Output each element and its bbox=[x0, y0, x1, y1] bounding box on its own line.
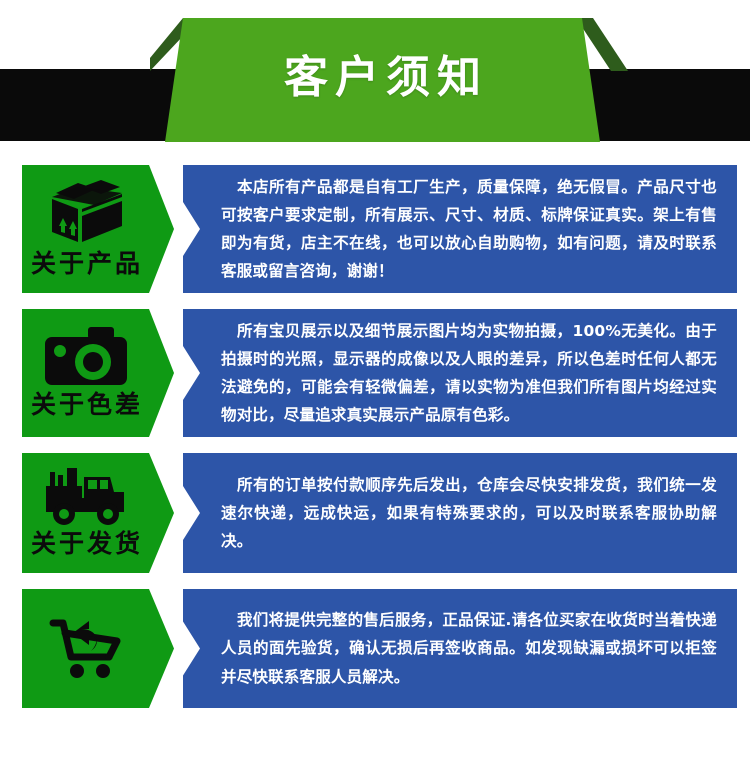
notice-text: 所有的订单按付款顺序先后发出，仓库会尽快安排发货，我们统一发速尔快递，远成快运，… bbox=[221, 471, 717, 556]
notice-panel-product: 本店所有产品都是自有工厂生产，质量保障，绝无假冒。产品尺寸也可按客户要求定制，所… bbox=[183, 165, 737, 293]
notice-row: 关于产品 本店所有产品都是自有工厂生产，质量保障，绝无假冒。产品尺寸也可按客户要… bbox=[0, 165, 750, 293]
notice-tile-label: 关于产品 bbox=[28, 250, 143, 278]
notice-panel-color: 所有宝贝展示以及细节展示图片均为实物拍摄，100%无美化。由于拍摄时的光照，显示… bbox=[183, 309, 737, 437]
delivery-truck-icon bbox=[40, 468, 132, 526]
page-title: 客户须知 bbox=[277, 56, 488, 104]
notice-tile-shipping: 关于发货 bbox=[22, 453, 174, 573]
customer-notice-page: 客户须知 bbox=[0, 0, 750, 768]
notice-text: 所有宝贝展示以及细节展示图片均为实物拍摄，100%无美化。由于拍摄时的光照，显示… bbox=[221, 317, 717, 430]
package-box-icon bbox=[44, 180, 128, 246]
notice-tile-label: 关于色差 bbox=[28, 391, 143, 419]
notice-row: 我们将提供完整的售后服务，正品保证.请各位买家在收货时当着快递人员的面先验货，确… bbox=[0, 589, 750, 708]
notice-tile-after-sales bbox=[22, 589, 174, 708]
notice-text: 本店所有产品都是自有工厂生产，质量保障，绝无假冒。产品尺寸也可按客户要求定制，所… bbox=[221, 173, 717, 286]
return-cart-icon bbox=[47, 615, 125, 679]
notice-tile-product: 关于产品 bbox=[22, 165, 174, 293]
notice-row: 关于发货 所有的订单按付款顺序先后发出，仓库会尽快安排发货，我们统一发速尔快递，… bbox=[0, 453, 750, 573]
notice-tile-label: 关于发货 bbox=[28, 530, 143, 558]
banner-ribbon: 客户须知 bbox=[165, 18, 600, 142]
notice-row: 关于色差 所有宝贝展示以及细节展示图片均为实物拍摄，100%无美化。由于拍摄时的… bbox=[0, 309, 750, 437]
notice-rows: 关于产品 本店所有产品都是自有工厂生产，质量保障，绝无假冒。产品尺寸也可按客户要… bbox=[0, 152, 750, 708]
notice-text: 我们将提供完整的售后服务，正品保证.请各位买家在收货时当着快递人员的面先验货，确… bbox=[221, 606, 717, 691]
notice-tile-color: 关于色差 bbox=[22, 309, 174, 437]
page-header-banner: 客户须知 bbox=[0, 0, 750, 152]
camera-icon bbox=[43, 327, 129, 387]
notice-panel-shipping: 所有的订单按付款顺序先后发出，仓库会尽快安排发货，我们统一发速尔快递，远成快运，… bbox=[183, 453, 737, 573]
notice-panel-after-sales: 我们将提供完整的售后服务，正品保证.请各位买家在收货时当着快递人员的面先验货，确… bbox=[183, 589, 737, 708]
